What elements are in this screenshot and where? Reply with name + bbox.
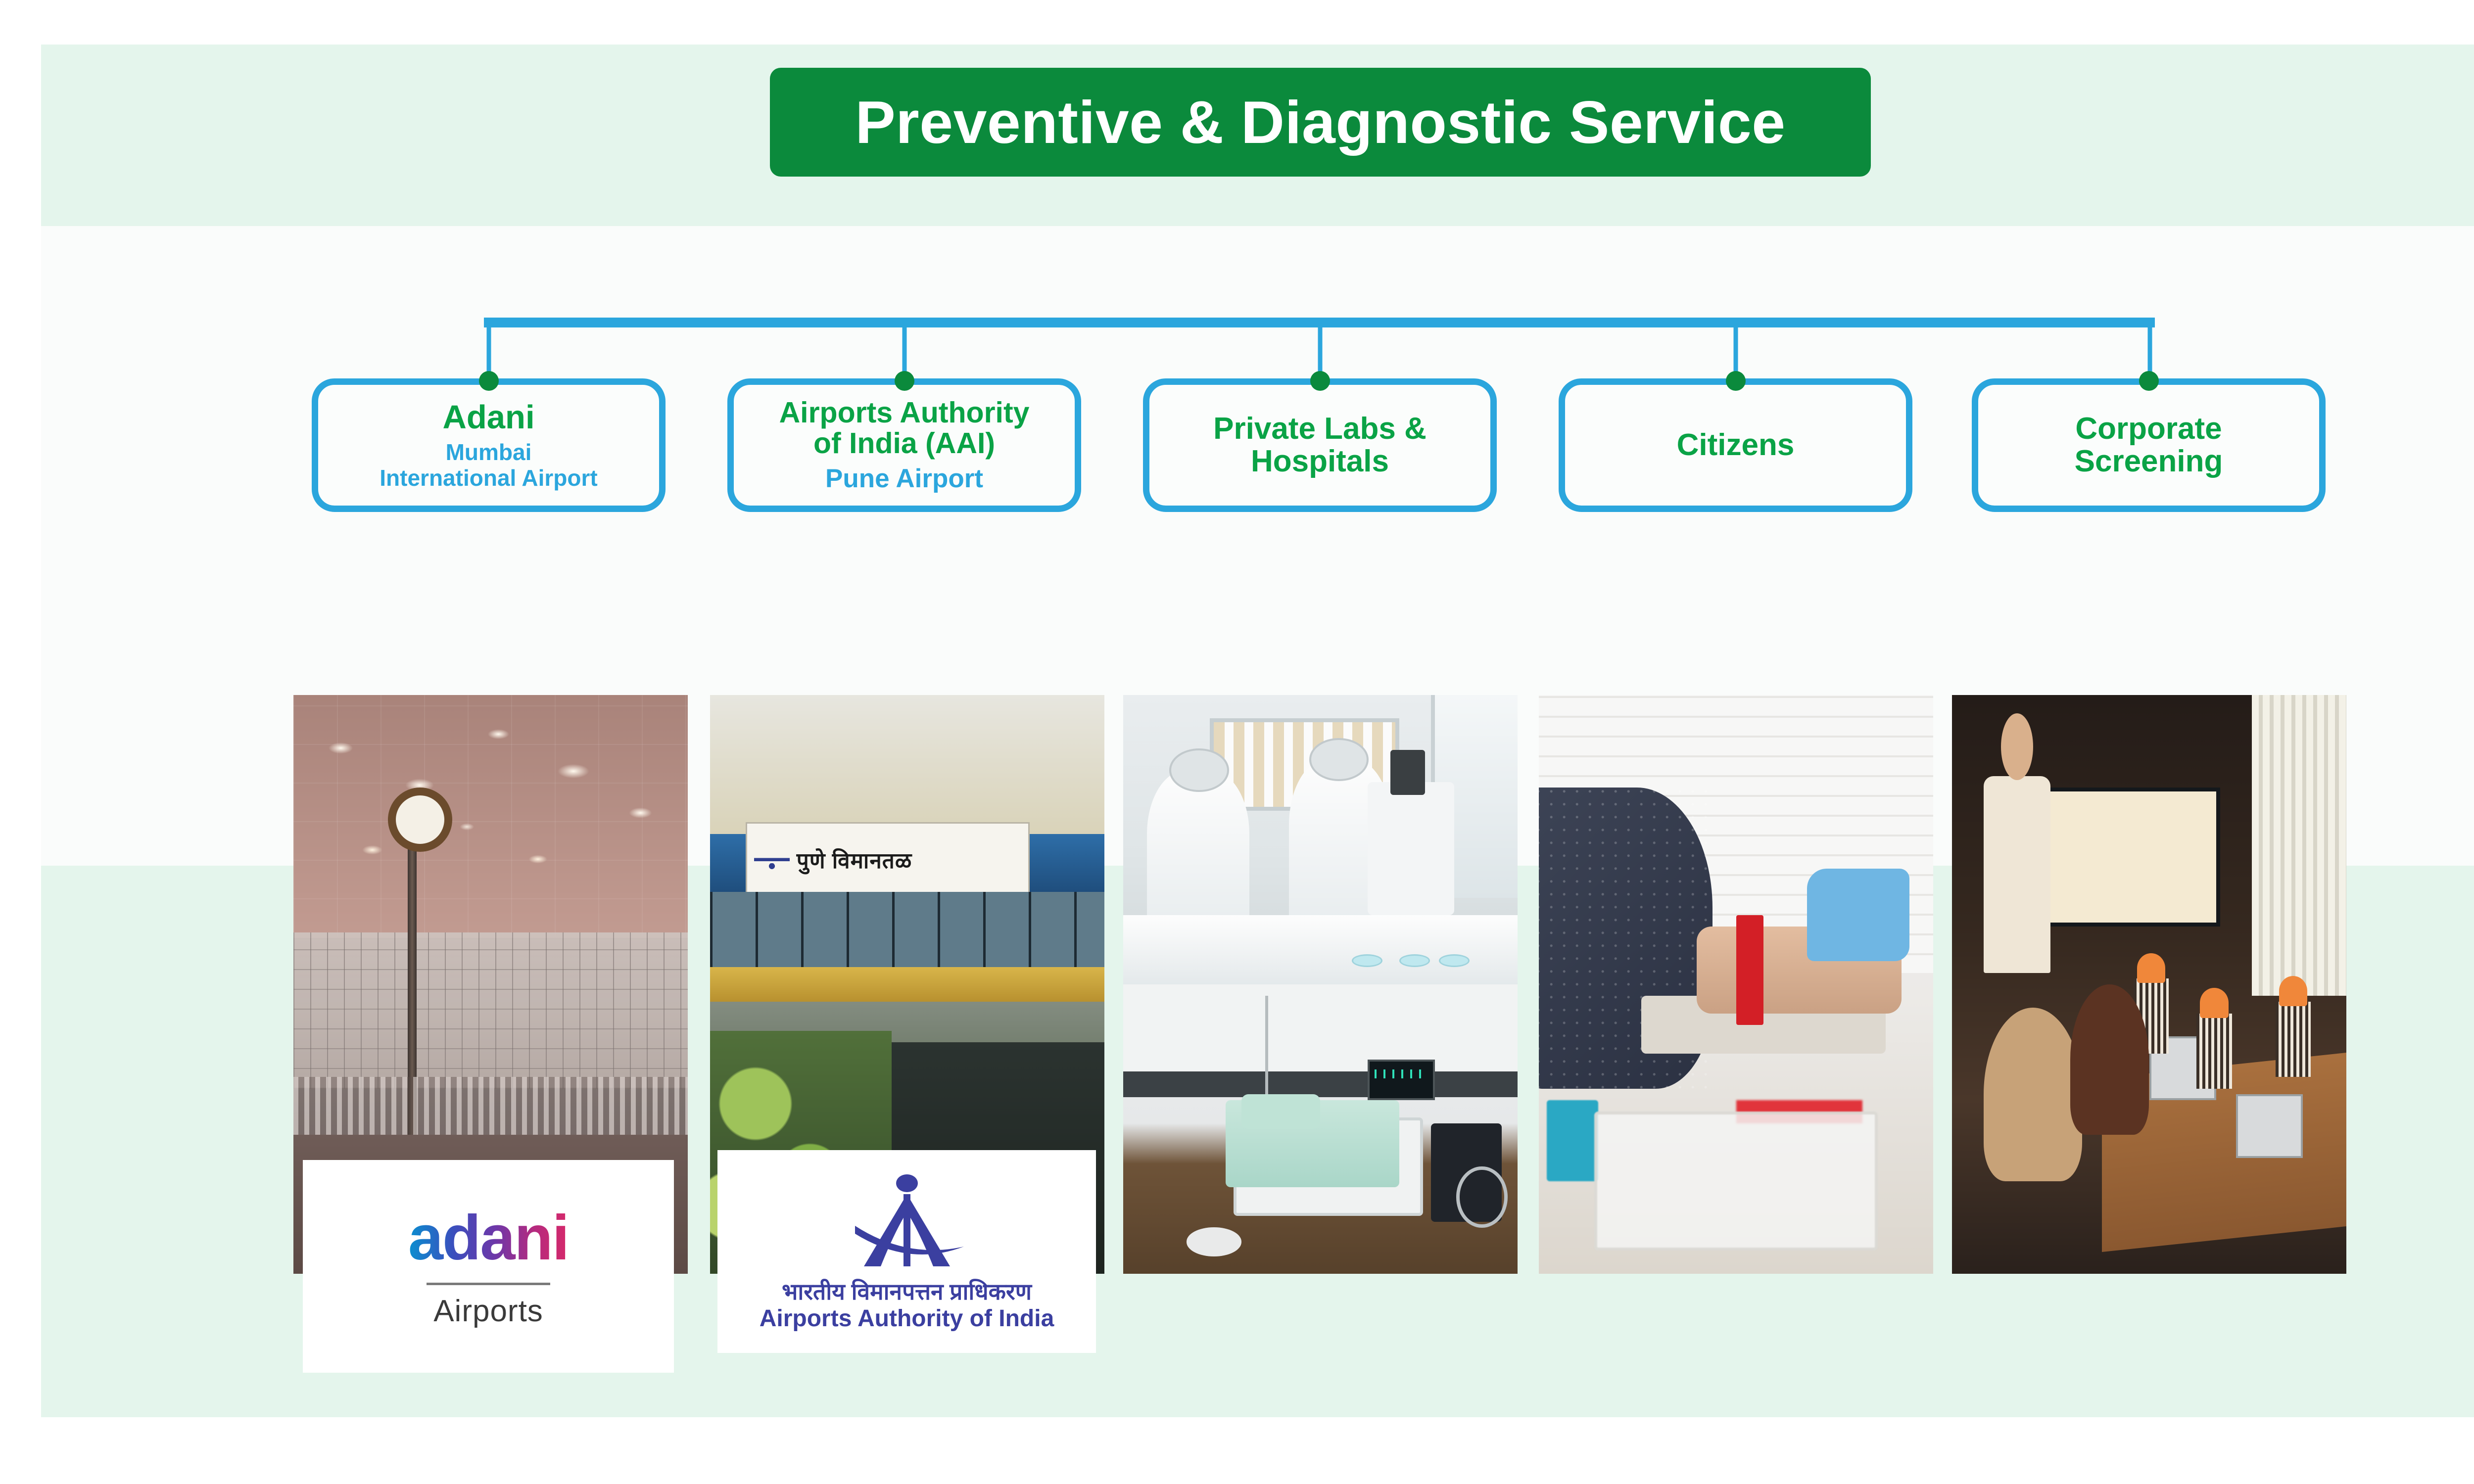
photo-detail-window-blinds — [2252, 695, 2346, 996]
slide-canvas: Preventive & Diagnostic Service Adani Mu… — [0, 0, 2474, 1484]
node-citizens[interactable]: Citizens — [1559, 378, 1912, 512]
logo-card-adani-airports: adani Airports — [303, 1160, 674, 1373]
photo-laboratory-technicians — [1123, 695, 1518, 984]
media-column-corporate-screening — [1952, 695, 2346, 1274]
photo-detail-bench — [1123, 915, 1518, 984]
photo-hospital-ward — [1123, 984, 1518, 1274]
wheelchair-icon — [1431, 1123, 1502, 1222]
photo-detail-ceiling-lights — [293, 706, 688, 938]
gift-bag-icon — [2196, 1014, 2232, 1089]
node-corporate-screening[interactable]: Corporate Screening — [1972, 378, 2326, 512]
photo-blood-draw — [1539, 695, 1933, 1274]
node-title-line2: Hospitals — [1213, 445, 1427, 478]
hairnet-icon — [1309, 738, 1369, 782]
hairnet-icon — [1169, 748, 1229, 792]
node-connector-dot-icon — [2139, 371, 2159, 391]
logo-divider — [427, 1283, 550, 1285]
photo-detail-glass-facade — [293, 932, 688, 1089]
slide-title-banner: Preventive & Diagnostic Service — [770, 68, 1871, 177]
node-connector-dot-icon — [479, 371, 499, 391]
media-column-citizens — [1539, 695, 1933, 1274]
node-airports-authority-of-india[interactable]: Airports Authority of India (AAI) Pune A… — [727, 378, 1081, 512]
photo-detail-wall — [1123, 984, 1518, 1071]
photo-detail-yellow-band — [710, 967, 1104, 1002]
node-title: Adani — [442, 400, 534, 435]
node-title-line1: Airports Authority — [779, 397, 1030, 428]
tourniquet-icon — [1736, 915, 1764, 1025]
aai-logo-hindi-text: भारतीय विमानपत्तन प्राधिकरण — [782, 1280, 1032, 1303]
media-column-private-labs — [1123, 695, 1518, 1274]
node-title: Corporate Screening — [2075, 413, 2223, 477]
laptop-icon — [2236, 1094, 2303, 1158]
photo-detail-technician-writing — [1147, 770, 1249, 938]
node-subtitle: Pune Airport — [825, 464, 983, 493]
signboard-text: पुणे विमानतळ — [797, 845, 912, 875]
node-connector-dot-icon — [1310, 371, 1330, 391]
photo-detail-blue-container — [1547, 1100, 1598, 1181]
photo-detail-signboard: पुणे विमानतळ — [746, 822, 1030, 897]
node-connector-dot-icon — [1726, 371, 1746, 391]
photo-detail-sample-tray — [1594, 1112, 1878, 1251]
aai-logo-english-text: Airports Authority of India — [760, 1307, 1054, 1331]
gloved-hand-icon — [1807, 869, 1909, 961]
petri-dish-icon — [1399, 954, 1430, 967]
photo-detail-canopy — [710, 695, 1104, 834]
petri-dish-icon — [1439, 954, 1470, 967]
petri-dish-icon — [1352, 954, 1382, 967]
node-title: Airports Authority of India (AAI) — [779, 397, 1030, 459]
adani-wordmark: adani — [408, 1206, 569, 1270]
photo-detail-attendee-second — [2070, 984, 2149, 1135]
photo-detail-attendee-front — [1984, 1008, 2082, 1181]
vital-signs-monitor-icon — [1368, 1060, 1434, 1100]
photo-detail-glass-band — [710, 892, 1104, 967]
presentation-screen-icon — [2039, 788, 2220, 927]
stool-icon — [1187, 1227, 1242, 1256]
node-private-labs-hospitals[interactable]: Private Labs & Hospitals — [1143, 378, 1497, 512]
aai-emblem-icon — [845, 1172, 969, 1276]
node-connector-dot-icon — [895, 371, 914, 391]
node-title-line1: Corporate — [2075, 413, 2223, 445]
microscope-icon — [1368, 782, 1454, 915]
gift-bag-icon — [2276, 1002, 2311, 1077]
photo-detail-wall-rail — [1123, 1071, 1518, 1098]
node-subtitle-line2: International Airport — [380, 465, 597, 491]
node-title-line2: Screening — [2075, 445, 2223, 478]
node-title: Private Labs & Hospitals — [1213, 413, 1427, 477]
photo-detail-presenter — [1984, 776, 2050, 973]
adani-logo-subtext: Airports — [433, 1296, 543, 1327]
node-title-line2: of India (AAI) — [779, 428, 1030, 459]
page-title: Preventive & Diagnostic Service — [855, 92, 1785, 152]
aai-mark-icon — [754, 848, 790, 871]
photo-detail-pillow — [1241, 1094, 1320, 1129]
node-adani[interactable]: Adani Mumbai International Airport — [312, 378, 666, 512]
node-subtitle: Mumbai International Airport — [380, 440, 597, 491]
photo-corporate-meeting — [1952, 695, 2346, 1274]
clock-icon — [388, 788, 452, 852]
node-title: Citizens — [1677, 429, 1795, 462]
logo-card-airports-authority-of-india: भारतीय विमानपत्तन प्राधिकरण Airports Aut… — [717, 1150, 1096, 1353]
node-subtitle-line1: Mumbai — [380, 440, 597, 465]
node-title-line1: Private Labs & — [1213, 413, 1427, 445]
